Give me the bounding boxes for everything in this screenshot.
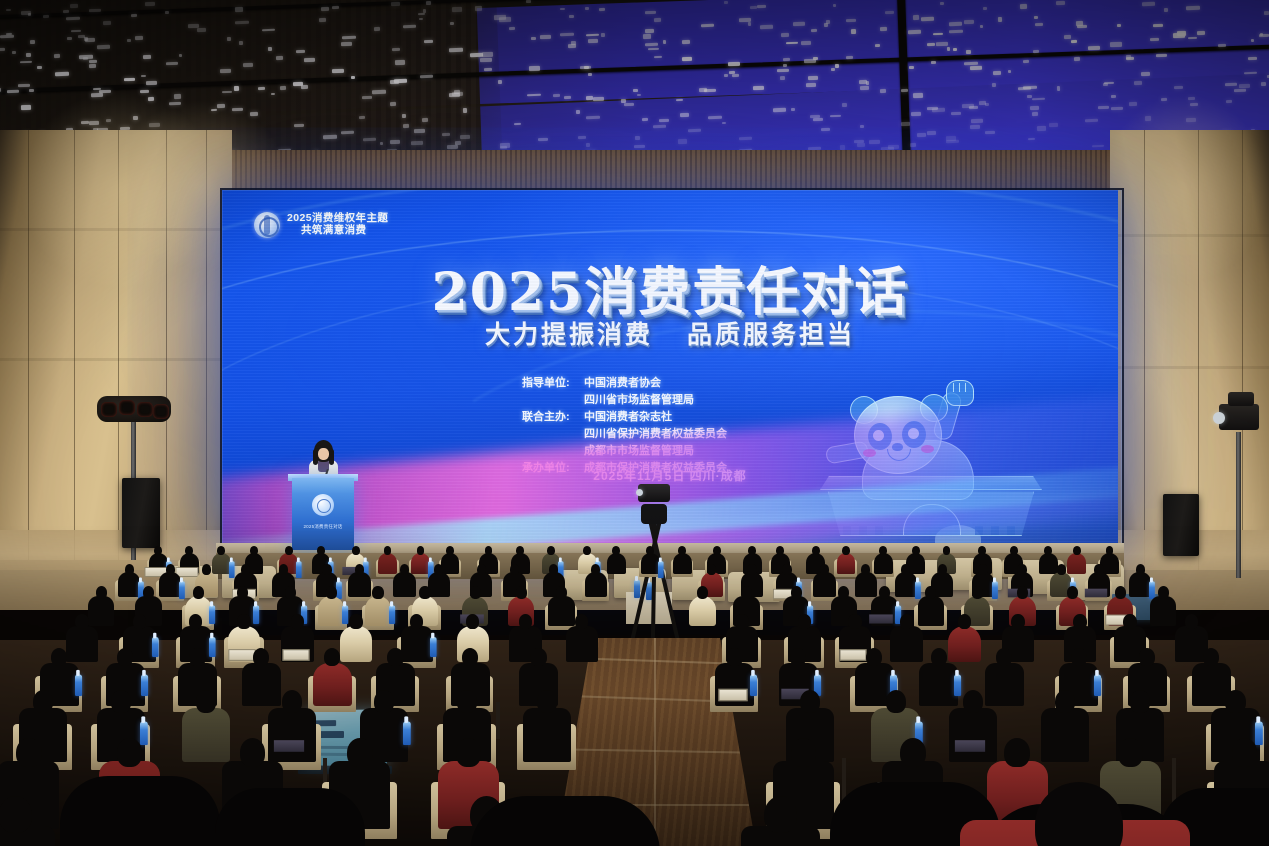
ceiling-light-speck: [527, 93, 541, 96]
ceiling-light-speck: [452, 7, 463, 12]
audience-head: [143, 586, 154, 599]
ceiling-light-speck: [983, 7, 987, 10]
audience-head: [324, 648, 340, 666]
ceiling-light-speck: [514, 122, 521, 125]
audience-body: [66, 626, 98, 662]
audience-head: [133, 614, 147, 629]
ceiling-light-speck: [1126, 56, 1134, 60]
ceiling-light-speck: [560, 32, 574, 35]
audience-body: [268, 708, 316, 762]
audience-head: [75, 614, 89, 629]
ceiling-light-speck: [1264, 11, 1269, 15]
audience-body: [1067, 553, 1086, 574]
screen-main-title: 2025消费责任对话: [222, 250, 1118, 325]
table-name-card: [839, 649, 866, 661]
ceiling-light-speck: [268, 47, 272, 51]
audience-head: [537, 690, 557, 713]
ceiling-light-speck: [70, 4, 79, 8]
foreground-silhouette: [215, 788, 365, 846]
audience-head: [1017, 586, 1028, 599]
ceiling-light-speck: [777, 69, 789, 73]
audience-body: [441, 553, 460, 574]
left-wall-panels: [0, 130, 232, 560]
audience-head: [612, 546, 620, 555]
ceiling-light-speck: [131, 14, 137, 17]
ceiling-light-speck: [947, 47, 950, 51]
ceiling-light-speck: [728, 61, 740, 65]
audience-head: [117, 738, 143, 767]
ceiling-light-speck: [414, 129, 425, 133]
ceiling-light-speck: [927, 42, 935, 45]
ceiling-light-speck: [701, 24, 714, 28]
ceiling-light-speck: [127, 39, 131, 42]
audience-area: [0, 520, 1269, 846]
audience-head: [446, 546, 454, 555]
conference-photo: 2025消费维权年主题 共筑满意消费 2025消费责任对话 大力提振消费品质服务…: [0, 0, 1269, 846]
ceiling-light-speck: [390, 80, 399, 84]
audience-head: [1185, 614, 1199, 629]
audience-head: [189, 614, 203, 629]
audience-head: [791, 586, 802, 599]
ceiling-light-speck: [217, 104, 225, 108]
audience-body: [1041, 708, 1089, 762]
audience-head: [516, 546, 524, 555]
ceiling-light-speck: [1019, 4, 1026, 9]
credit-label: [522, 392, 584, 409]
ceiling-light-speck: [831, 68, 835, 71]
ceiling-light-speck: [454, 90, 460, 94]
water-bottle: [389, 606, 395, 625]
ceiling-light-speck: [1196, 31, 1204, 35]
ceiling-light-speck: [54, 54, 60, 59]
ceiling-light-speck: [908, 29, 921, 34]
audience-head: [291, 614, 305, 629]
ceiling-light-speck: [135, 35, 143, 39]
ceiling-light-speck: [773, 108, 786, 112]
water-bottle: [1255, 722, 1263, 745]
audience-head: [838, 586, 849, 599]
audience-head: [166, 564, 175, 575]
ceiling-light-speck: [729, 71, 735, 74]
ceiling-light-speck: [7, 89, 19, 93]
table-name-card: [228, 649, 255, 661]
ceiling-light-speck: [390, 140, 400, 145]
ceiling-light-speck: [585, 7, 589, 10]
ceiling-light-speck: [757, 5, 766, 8]
audience-head: [530, 648, 546, 666]
ceiling-light-speck: [842, 102, 847, 106]
audience-head: [237, 614, 251, 629]
ceiling-light-speck: [653, 124, 666, 127]
ceiling-light-speck: [422, 118, 428, 122]
ceiling-light-speck: [374, 26, 380, 30]
ceiling-light-speck: [576, 109, 580, 113]
audience-body: [348, 572, 370, 597]
audience-head: [189, 648, 205, 666]
ceiling-light-speck: [1129, 102, 1138, 106]
audience-head: [374, 690, 394, 713]
audience-body: [365, 596, 392, 626]
ceiling-light-speck: [553, 94, 560, 97]
ceiling-light-speck: [480, 58, 492, 63]
credit-value: 四川省市场监督管理局: [584, 392, 694, 409]
ceiling-light-speck: [846, 19, 856, 22]
ceiling-light-speck: [939, 2, 944, 5]
audience-body: [88, 596, 115, 626]
audience-head: [790, 648, 806, 666]
ceiling-light-speck: [680, 113, 690, 117]
light-rig-icon: [97, 396, 171, 422]
ceiling-light-speck: [1111, 107, 1123, 110]
audience-head: [1115, 586, 1126, 599]
audience-head: [417, 546, 425, 555]
audience-head: [0, 796, 32, 833]
ceiling-light-speck: [926, 131, 935, 135]
ceiling-light-speck: [760, 25, 773, 29]
audience-body: [318, 596, 345, 626]
water-bottle: [179, 581, 185, 599]
ceiling-light-speck: [483, 67, 491, 70]
audience-head: [1225, 690, 1245, 713]
ceiling-light-speck: [1032, 111, 1038, 115]
ceiling-light-speck: [970, 125, 980, 129]
audience-head: [798, 614, 812, 629]
audience-head: [879, 546, 887, 555]
ceiling-light-speck: [865, 81, 869, 85]
audience-head: [510, 564, 519, 575]
ceiling-light-speck: [249, 112, 257, 117]
audience-head: [241, 564, 250, 575]
audience-body: [340, 626, 372, 662]
ceiling-light-speck: [29, 89, 34, 92]
ceiling-light-speck: [144, 2, 154, 7]
ceiling-light-speck: [1225, 82, 1237, 85]
ceiling-light-speck: [89, 8, 101, 12]
ceiling-light-speck: [971, 118, 983, 122]
audience-body: [1150, 596, 1177, 626]
ceiling-light-speck: [642, 34, 650, 39]
audience-head: [556, 586, 567, 599]
ceiling-light-speck: [91, 93, 103, 97]
ceiling-light-speck: [133, 115, 138, 119]
ceiling-light-speck: [964, 20, 974, 24]
ceiling-light-speck: [969, 66, 981, 70]
audience-head: [1136, 564, 1145, 575]
ceiling-light-speck: [234, 86, 239, 91]
water-bottle: [253, 606, 259, 625]
audience-head: [1071, 648, 1087, 666]
audience-head: [1073, 614, 1087, 629]
ceiling-light-speck: [1142, 1, 1155, 6]
ceiling-light-speck: [18, 84, 30, 87]
water-bottle: [658, 562, 664, 579]
audience-head: [1203, 648, 1219, 666]
water-bottle: [992, 581, 998, 599]
audience-head: [978, 564, 987, 575]
ceiling-light-speck: [913, 93, 923, 98]
ceiling-light-speck: [146, 81, 157, 85]
audience-head: [349, 614, 363, 629]
ceiling-light-speck: [821, 128, 830, 132]
ceiling-light-speck: [66, 17, 80, 20]
ceiling-light-speck: [588, 73, 592, 76]
audience-body: [985, 663, 1024, 706]
audience-head: [410, 614, 424, 629]
ceiling-light-speck: [808, 76, 818, 80]
ceiling-light-speck: [569, 15, 574, 18]
audience-head: [51, 648, 67, 666]
ceiling-light-speck: [783, 58, 790, 61]
ceiling-light-speck: [601, 33, 605, 37]
audience-head: [285, 586, 296, 599]
audience-head: [943, 546, 951, 555]
audience-head: [33, 690, 53, 713]
audience-head: [285, 546, 293, 555]
audience-head: [196, 690, 216, 713]
foreground-silhouette: [470, 796, 660, 846]
ceiling-light-speck: [860, 86, 869, 90]
badge-line-2: 共筑满意消费: [287, 225, 388, 237]
audience-body: [182, 708, 230, 762]
audience-head: [457, 690, 477, 713]
audience-head: [697, 586, 708, 599]
ceiling-light-speck: [442, 132, 450, 135]
water-bottle: [403, 722, 411, 745]
audience-head: [400, 564, 409, 575]
audience-body: [548, 596, 575, 626]
water-bottle: [140, 722, 148, 745]
table-name-card: [274, 741, 304, 753]
ceiling-light-speck: [78, 35, 85, 39]
ceiling-light-speck: [1055, 1, 1064, 5]
audience-body: [1039, 553, 1058, 574]
credit-row: 指导单位:中国消费者协会: [522, 375, 727, 392]
ceiling-light-speck: [423, 9, 427, 13]
ceiling-light-speck: [578, 136, 586, 139]
ceiling-light-speck: [342, 36, 356, 40]
ceiling-light-speck: [37, 66, 42, 69]
ceiling-light-speck: [529, 66, 540, 71]
ceiling-light-speck: [1239, 84, 1251, 88]
audience-head: [154, 546, 162, 555]
water-bottle: [141, 674, 148, 695]
ceiling-light-speck: [980, 25, 983, 28]
ceiling-light-speck: [390, 102, 396, 106]
ceiling-light-speck: [106, 118, 112, 122]
ceiling-light-speck: [526, 0, 531, 4]
ceiling-light-speck: [979, 100, 986, 104]
audience-head: [1067, 586, 1078, 599]
audience-head: [583, 546, 591, 555]
audience-head: [253, 648, 269, 666]
audience-head: [1017, 564, 1026, 575]
audience-body: [159, 572, 181, 597]
audience-body: [378, 553, 397, 574]
ceiling-light-speck: [998, 17, 1002, 22]
audience-head: [185, 546, 193, 555]
ceiling-light-speck: [851, 29, 857, 34]
ceiling-light-speck: [25, 53, 30, 57]
audience-body: [689, 596, 716, 626]
subtitle-left: 大力提振消费: [485, 321, 653, 349]
ceiling-light-speck: [63, 10, 69, 13]
ceiling-light-speck: [1260, 82, 1266, 86]
audience-head: [202, 564, 211, 575]
ceiling-light-speck: [635, 136, 640, 140]
chair-leg: [496, 702, 500, 739]
podium-emblem-icon: [312, 494, 334, 516]
audience-head: [707, 564, 716, 575]
audience-body: [393, 572, 415, 597]
ceiling-light-speck: [633, 89, 638, 92]
audience-body: [855, 572, 877, 597]
table-name-card: [955, 741, 985, 753]
audience-head: [591, 564, 600, 575]
water-bottle: [342, 606, 348, 625]
audience-head: [456, 738, 482, 767]
audience-head: [800, 690, 820, 713]
audience-head: [791, 738, 817, 767]
audience-head: [466, 614, 480, 629]
ceiling-light-speck: [1150, 37, 1159, 40]
audience-body: [673, 553, 692, 574]
audience-head: [547, 546, 555, 555]
ceiling-light-speck: [586, 96, 593, 100]
ceiling-light-speck: [654, 18, 661, 22]
ceiling-light-speck: [724, 74, 728, 77]
audience-body: [313, 663, 352, 706]
water-bottle: [209, 637, 216, 657]
ceiling-light-speck: [663, 40, 666, 44]
ceiling-light-speck: [1173, 85, 1182, 89]
audience-body: [428, 572, 450, 597]
audience-head: [912, 546, 920, 555]
ceiling-light-speck: [1057, 86, 1060, 91]
audience-head: [1130, 690, 1150, 713]
audience-head: [240, 738, 266, 767]
ceiling-light-speck: [910, 143, 917, 147]
ceiling-light-speck: [1173, 33, 1185, 38]
audience-body: [585, 572, 607, 597]
audience-head: [237, 586, 248, 599]
audience-head: [549, 564, 558, 575]
ceiling-light-speck: [166, 61, 178, 65]
audience-head: [1106, 546, 1114, 555]
ceiling-light-speck: [993, 71, 1002, 75]
ceiling-light-speck: [880, 27, 887, 32]
audience-head: [387, 648, 403, 666]
table-name-card: [718, 689, 748, 702]
audience-head: [776, 546, 784, 555]
audience-body: [813, 572, 835, 597]
audience-head: [726, 648, 742, 666]
ceiling-light-speck: [174, 94, 181, 99]
ceiling-light-speck: [474, 6, 481, 11]
ceiling-light-speck: [931, 60, 936, 63]
audience-body: [919, 663, 958, 706]
ceiling-light-speck: [1023, 59, 1029, 62]
ceiling-light-speck: [67, 37, 72, 41]
credit-label: 联合主办:: [522, 409, 584, 426]
ceiling-light-speck: [1088, 46, 1100, 50]
ceiling-light-speck: [362, 96, 372, 99]
audience-head: [782, 564, 791, 575]
water-bottle: [915, 581, 921, 599]
ceiling-light-speck: [927, 107, 938, 110]
ceiling-light-speck: [93, 87, 101, 90]
ceiling-light-speck: [140, 89, 149, 93]
audience-head: [117, 648, 133, 666]
audience-body: [1129, 572, 1151, 597]
ceiling-light-speck: [1190, 103, 1198, 106]
ceiling-light-speck: [165, 11, 169, 14]
audience-head: [747, 564, 756, 575]
audience-body: [837, 553, 856, 574]
ceiling-light-speck: [936, 41, 948, 46]
ceiling-light-speck: [985, 103, 989, 106]
ceiling-light-speck: [124, 78, 135, 81]
ceiling-light-speck: [624, 102, 634, 106]
ceiling-light-speck: [21, 105, 32, 110]
ceiling-light-speck: [1076, 21, 1083, 26]
ceiling-light-speck: [966, 50, 971, 54]
ceiling-light-speck: [148, 97, 154, 101]
ceiling-light-speck: [1008, 70, 1011, 73]
ceiling-light-speck: [463, 108, 468, 113]
ceiling-light-speck: [839, 145, 845, 150]
audience-head: [516, 586, 527, 599]
ceiling-light-speck: [494, 14, 506, 19]
ceiling-light-speck: [1145, 115, 1152, 120]
audience-head: [326, 586, 337, 599]
ceiling-light-speck: [1161, 98, 1167, 101]
audience-head: [972, 586, 983, 599]
ceiling-light-speck: [699, 88, 708, 92]
ceiling-light-speck: [869, 140, 880, 144]
led-stage-screen: 2025消费维权年主题 共筑满意消费 2025消费责任对话 大力提振消费品质服务…: [222, 190, 1118, 545]
audience-head: [434, 564, 443, 575]
audience-head: [317, 546, 325, 555]
audience-body: [607, 553, 626, 574]
ceiling-light-speck: [341, 42, 352, 46]
audience-head: [938, 564, 947, 575]
audience-head: [901, 564, 910, 575]
audience-head: [477, 564, 486, 575]
ceiling-light-speck: [964, 61, 978, 65]
audience-head: [866, 648, 882, 666]
audience-head: [741, 586, 752, 599]
credit-value: 中国消费者杂志社: [584, 409, 672, 426]
ceiling-light-speck: [678, 139, 687, 144]
ceiling-light-speck: [786, 41, 798, 44]
ceiling-light-speck: [235, 7, 243, 12]
ceiling-light-speck: [738, 18, 750, 22]
audience-head: [193, 586, 204, 599]
audience-body: [890, 626, 922, 662]
audience-head: [1158, 586, 1169, 599]
ceiling-light-speck: [642, 118, 648, 121]
ceiling-light-speck: [1140, 72, 1149, 76]
audience-body: [948, 626, 980, 662]
ceiling-light-speck: [211, 109, 217, 112]
audience-head: [1010, 546, 1018, 555]
audience-body: [641, 553, 660, 574]
ceiling-light-speck: [403, 123, 409, 127]
audience-head: [1139, 648, 1155, 666]
audience-head: [1044, 546, 1052, 555]
audience-head: [900, 614, 914, 629]
ceiling-light-speck: [395, 60, 405, 65]
